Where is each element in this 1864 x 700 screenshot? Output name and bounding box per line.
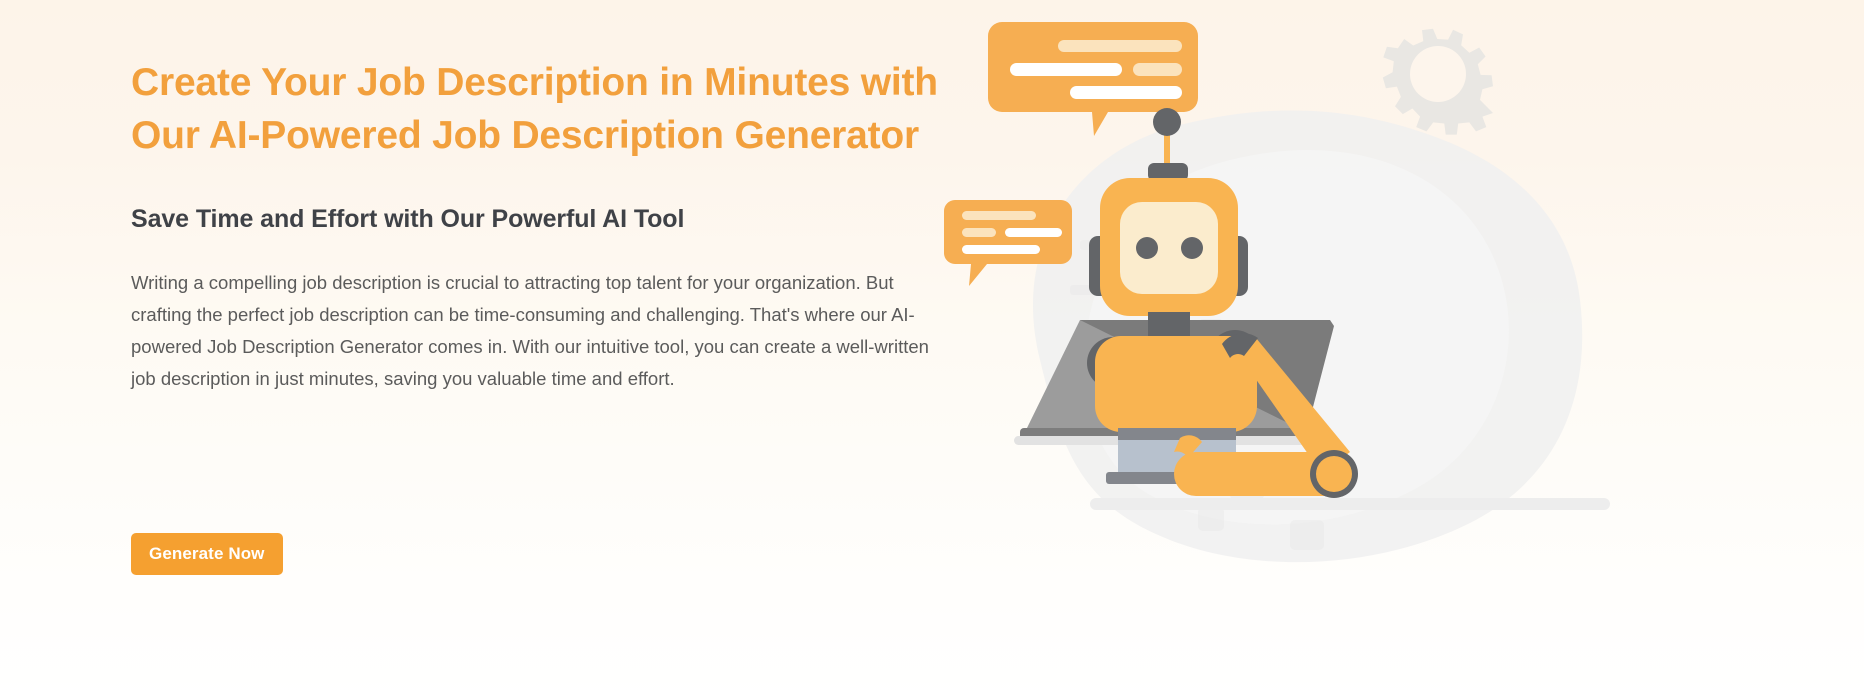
generate-now-button[interactable]: Generate Now — [131, 533, 283, 575]
hero-description: Writing a compelling job description is … — [131, 235, 931, 395]
hero-illustration — [930, 0, 1864, 700]
hero-subtitle: Save Time and Effort with Our Powerful A… — [131, 162, 941, 235]
page-title: Create Your Job Description in Minutes w… — [131, 56, 941, 162]
hero-copy-block: Create Your Job Description in Minutes w… — [131, 56, 941, 395]
desk-surface — [1090, 498, 1610, 510]
hero-section: Create Your Job Description in Minutes w… — [0, 0, 1864, 700]
gear-icon — [1383, 29, 1493, 135]
